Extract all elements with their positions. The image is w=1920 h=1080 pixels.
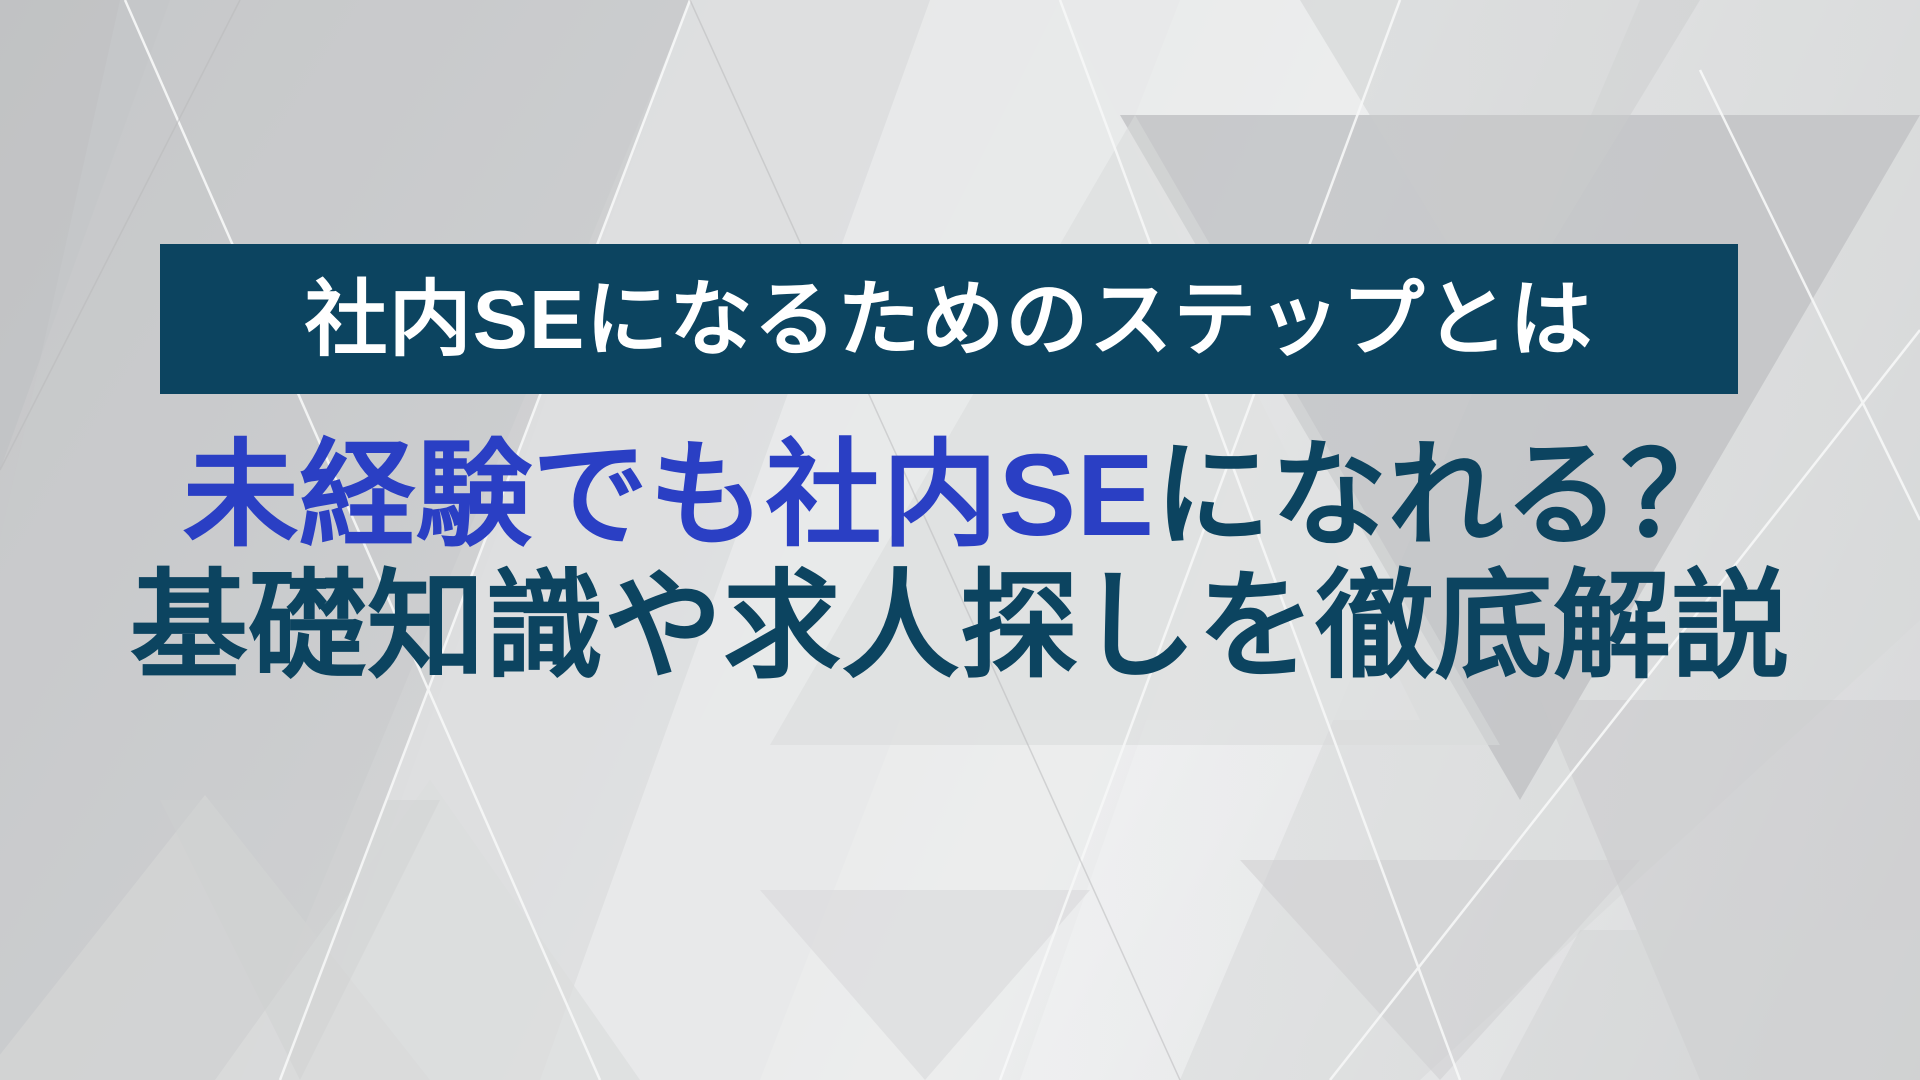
eyebrow-banner: 社内SEになるためのステップとは [160,244,1738,394]
headline-line-2: 基礎知識や求人探しを徹底解説 [0,561,1920,694]
headline-segment-teal-2: 基礎知識や求人探しを徹底解説 [130,561,1790,693]
headline-block: 未経験でも社内SEになれる？ 基礎知識や求人探しを徹底解説 [0,430,1920,694]
eyebrow-label: 社内SEになるためのステップとは [305,278,1594,361]
headline-segment-teal: になれる？ [1155,430,1738,560]
headline-line-1: 未経験でも社内SEになれる？ [0,430,1920,561]
thumbnail-canvas: 社内SEになるためのステップとは 未経験でも社内SEになれる？ 基礎知識や求人探… [0,0,1920,1080]
headline-segment-blue: 未経験でも社内SE [183,430,1155,560]
